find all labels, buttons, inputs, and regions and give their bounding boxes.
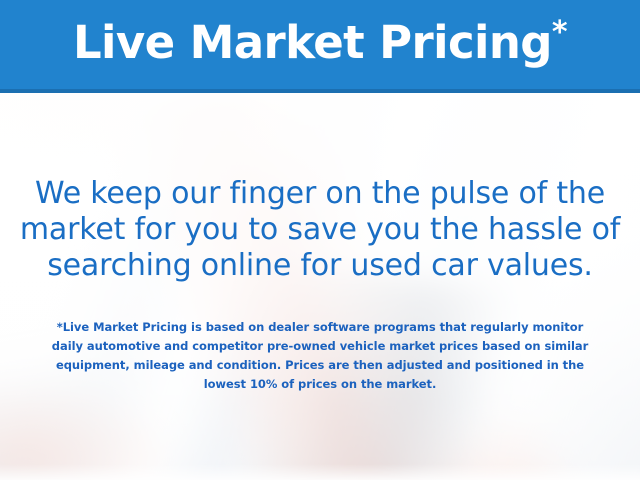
headline-line-3: searching online for used car values. <box>0 248 640 284</box>
header-banner: Live Market Pricing* <box>0 0 640 93</box>
background-bottom-fade <box>0 464 640 480</box>
live-market-pricing-slide: Live Market Pricing* We keep our finger … <box>0 0 640 480</box>
disclaimer-text: *Live Market Pricing is based on dealer … <box>20 318 620 394</box>
disclaimer-line-1: *Live Market Pricing is based on dealer … <box>20 318 620 337</box>
headline-line-1: We keep our finger on the pulse of the <box>0 176 640 212</box>
disclaimer-line-3: equipment, mileage and condition. Prices… <box>20 356 620 375</box>
headline-copy: We keep our finger on the pulse of the m… <box>0 176 640 284</box>
title-asterisk: * <box>552 15 567 50</box>
disclaimer-line-2: daily automotive and competitor pre-owne… <box>20 337 620 356</box>
page-title-text: Live Market Pricing <box>73 16 552 69</box>
page-title: Live Market Pricing* <box>73 20 567 69</box>
disclaimer-line-4: lowest 10% of prices on the market. <box>20 375 620 394</box>
headline-line-2: market for you to save you the hassle of <box>0 212 640 248</box>
